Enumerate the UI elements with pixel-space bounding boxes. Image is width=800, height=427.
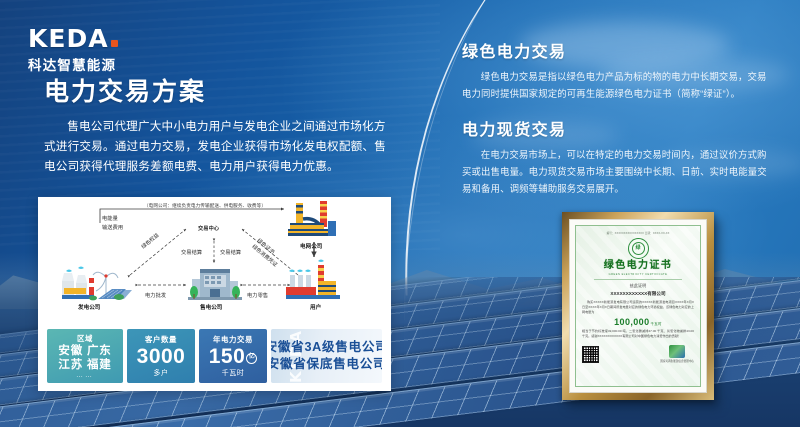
- diagram-note: （电网公司：继续负责电力传输配送、供电服务、收费等）: [100, 203, 310, 209]
- section-green-power-trading: 绿色电力交易 绿色电力交易是指以绿色电力产品为标的物的电力中长期交易，交易电力同…: [462, 38, 774, 102]
- section-title: 电力现货交易: [462, 116, 774, 140]
- stat-value: 150: [209, 346, 246, 367]
- certificate-footer-paragraph: 相当于节约标准煤49,000.00 吨，二氧化碳减排47.00 千克、氮氧化物减…: [582, 329, 694, 339]
- info-card: （电网公司：继续负责电力传输配送、供电服务、收费等） 电能量 输送费用 交易中心…: [38, 197, 391, 391]
- stat-caption: 年电力交易: [213, 334, 253, 345]
- certificate-title-english: GREEN ELECTRICITY CERTIFICATE: [582, 273, 694, 276]
- diagram-node-grid: 电网公司: [300, 242, 322, 250]
- stat-sub: 多户: [153, 368, 168, 378]
- certificate-frame: 编号：XXXXXXXXXXXXXXXX 日期：XXXX-XX-XX 绿 绿色电力…: [562, 212, 714, 400]
- certificate-amount: 100,000千瓦时: [582, 317, 694, 327]
- section-spot-trading: 电力现货交易 在电力交易市场上，可以在特定的电力交易时间内，通过议价方式购买或出…: [462, 116, 774, 197]
- certificate-subtitle: 兹此证明: [582, 283, 694, 289]
- certificate-mat: 编号：XXXXXXXXXXXXXXXX 日期：XXXX-XX-XX 绿 绿色电力…: [569, 219, 707, 393]
- certificate-serial-line: 编号：XXXXXXXXXXXXXXXX 日期：XXXX-XX-XX: [582, 231, 694, 235]
- left-content-column: 电力交易方案 售电公司代理广大中小电力用户与发电企业之间通过市场化方式进行交易。…: [44, 72, 396, 177]
- certificate-document: 编号：XXXXXXXXXXXXXXXX 日期：XXXX-XX-XX 绿 绿色电力…: [575, 225, 701, 387]
- diagram-label-settle-left: 交易结算: [181, 249, 202, 256]
- section-body: 绿色电力交易是指以绿色电力产品为标的物的电力中长期交易，交易电力同时提供国家规定…: [462, 69, 774, 102]
- diagram-label-energy-1: 电能量: [102, 215, 118, 222]
- right-content-column: 绿色电力交易 绿色电力交易是指以绿色电力产品为标的物的电力中长期交易，交易电力同…: [462, 38, 774, 212]
- green-certificate-photo[interactable]: 编号：XXXXXXXXXXXXXXXX 日期：XXXX-XX-XX 绿 绿色电力…: [562, 212, 722, 408]
- diagram-label-center: 交易中心: [198, 225, 219, 232]
- diagram-node-retailer: 售电公司: [200, 303, 222, 311]
- diagram-node-generation: 发电公司: [78, 303, 100, 311]
- issuer-emblem-icon: [669, 345, 685, 358]
- certificate-amount-unit: 千瓦时: [650, 322, 661, 326]
- certificate-company-name: XXXXXXXXXXXX有限公司: [582, 291, 694, 297]
- stat-regions-line-1: 安徽 广东: [58, 345, 111, 359]
- certificate-issuer-block: 国家可再生能源信息管理中心: [660, 345, 694, 363]
- stat-card-annual-volume[interactable]: 年电力交易 150 亿 千瓦时: [199, 329, 267, 383]
- stat-card-customers[interactable]: 客户数量 3000 多户: [127, 329, 195, 383]
- page-intro-paragraph: 售电公司代理广大中小电力用户与发电企业之间通过市场化方式进行交易。通过电力交易，…: [44, 117, 396, 177]
- diagram-label-settle-right: 交易结算: [220, 249, 241, 256]
- stat-card-regions[interactable]: 区域 安徽 广东 江苏 福建 ……: [47, 329, 123, 383]
- retailer-building-icon: [184, 263, 246, 301]
- certificate-bottom-row: 国家可再生能源信息管理中心: [582, 345, 694, 363]
- logo-accent-dot: [111, 40, 118, 47]
- diagram-label-energy-2: 输送费用: [102, 224, 123, 231]
- diagram-label-retail: 电力零售: [247, 292, 268, 299]
- diagram-node-user: 用户: [310, 303, 321, 311]
- certificate-amount-value: 100,000: [614, 317, 649, 327]
- stat-unit-badge: 亿: [246, 353, 257, 364]
- logo-chinese-text: 科达智慧能源: [28, 54, 148, 74]
- stat-caption: 客户数量: [145, 334, 177, 345]
- stat-regions-line-2: 江苏 福建: [58, 359, 111, 373]
- certificate-divider: [594, 279, 682, 280]
- diagram-label-wholesale: 电力批发: [145, 292, 166, 299]
- certificate-title: 绿色电力证书: [582, 260, 694, 271]
- qualification-badge-card[interactable]: KEDA 安徽省3A级售电公司 安徽省保底售电公司: [271, 329, 382, 383]
- section-title: 绿色电力交易: [462, 38, 774, 62]
- section-body: 在电力交易市场上，可以在特定的电力交易时间内，通过议价方式购买或出售电量。电力现…: [462, 147, 774, 197]
- stat-value-row: 150 亿: [209, 346, 258, 367]
- stat-regions-ellipsis: ……: [76, 372, 94, 379]
- stats-strip: 区域 安徽 广东 江苏 福建 …… 客户数量 3000 多户 年电力交易 150…: [47, 329, 382, 383]
- power-trading-flow-diagram: （电网公司：继续负责电力传输配送、供电服务、收费等） 电能量 输送费用 交易中心…: [38, 197, 391, 325]
- qualification-line-1: 安徽省3A级售电公司: [271, 339, 382, 356]
- qualification-line-2: 安徽省保底售电公司: [271, 356, 382, 373]
- logo-latin-mark: KEDA: [28, 26, 148, 51]
- slide-canvas: KEDA 科达智慧能源 电力交易方案 售电公司代理广大中小电力用户与发电企业之间…: [0, 0, 800, 427]
- certificate-body-paragraph: 购买XXXXX新能源发电有限公司运营的XXXXX新能源发电项目XXXX年X月X日…: [582, 300, 694, 315]
- stat-sub: 千瓦时: [222, 368, 245, 378]
- page-title: 电力交易方案: [44, 72, 396, 108]
- stat-caption: 区域: [77, 333, 93, 344]
- logo-latin-text: KEDA: [28, 26, 109, 51]
- seal-inner-text: 绿: [632, 242, 645, 255]
- qr-code-icon[interactable]: [582, 346, 599, 363]
- brand-logo[interactable]: KEDA 科达智慧能源: [28, 26, 148, 74]
- stat-value: 3000: [137, 346, 186, 367]
- certificate-issuer-name: 国家可再生能源信息管理中心: [660, 359, 694, 363]
- green-certificate-seal-icon: 绿: [628, 238, 649, 259]
- generation-plant-icon: [60, 259, 132, 301]
- grid-company-icon: [286, 201, 344, 241]
- user-factory-icon: [284, 259, 348, 301]
